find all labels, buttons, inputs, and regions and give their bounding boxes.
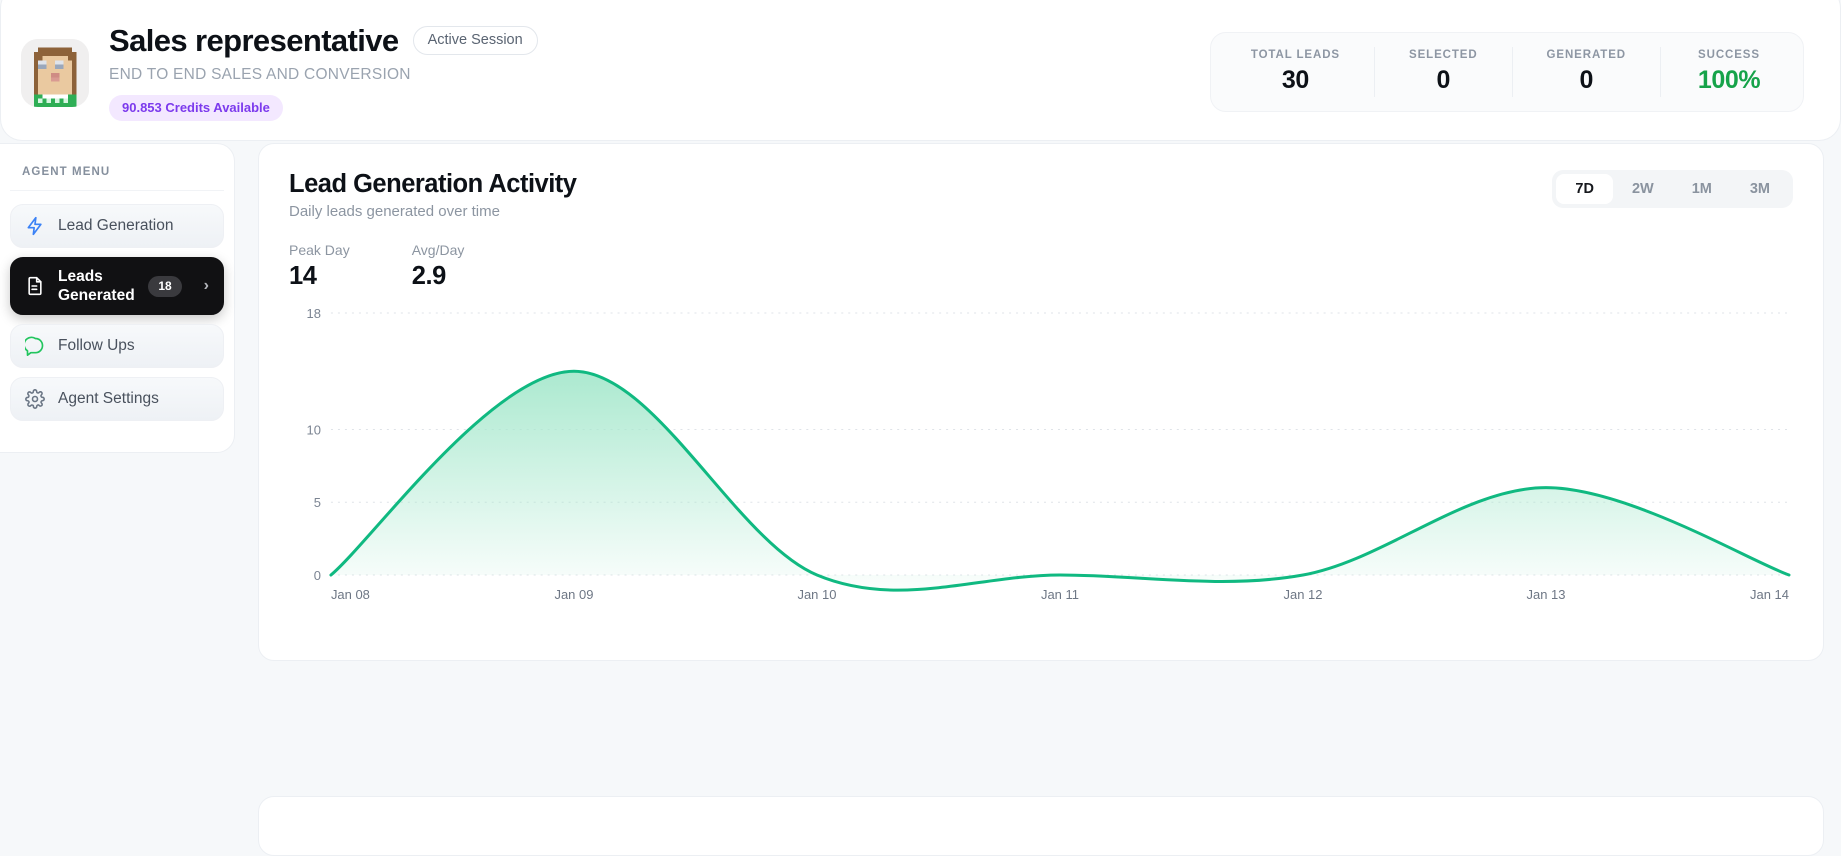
gear-icon (25, 389, 45, 409)
stat-value: 100% (1695, 66, 1763, 95)
chevron-right-icon: › (204, 277, 209, 295)
sidebar-item-label: Lead Generation (58, 217, 173, 235)
stat-success: SUCCESS 100% (1661, 47, 1797, 97)
kpi-avg-day: Avg/Day 2.9 (412, 242, 465, 291)
range-button-1m[interactable]: 1M (1673, 174, 1731, 204)
page-title: Sales representative (109, 23, 399, 59)
stat-total-leads: TOTAL LEADS 30 (1217, 47, 1375, 97)
chart-header: Lead Generation Activity Daily leads gen… (289, 170, 1793, 220)
sidebar-heading: AGENT MENU (10, 162, 224, 191)
y-axis-tick-label: 5 (314, 495, 321, 510)
chat-bubble-icon (25, 336, 45, 356)
x-axis-tick-label: Jan 14 (1750, 587, 1789, 602)
lightning-bolt-icon (25, 216, 45, 236)
sidebar-item-badge: 18 (148, 276, 181, 297)
stat-label: TOTAL LEADS (1251, 49, 1340, 61)
sidebar-item-leads-generated[interactable]: Leads Generated 18 › (10, 257, 224, 315)
kpi-peak-day: Peak Day 14 (289, 242, 350, 291)
chart-canvas: 051018Jan 08Jan 09Jan 10Jan 11Jan 12Jan … (289, 307, 1793, 607)
sidebar-item-agent-settings[interactable]: Agent Settings (10, 377, 224, 421)
x-axis-tick-label: Jan 13 (1527, 587, 1566, 602)
kpi-value: 14 (289, 262, 350, 291)
area-chart: 051018Jan 08Jan 09Jan 10Jan 11Jan 12Jan … (289, 307, 1793, 607)
chart-title-block: Lead Generation Activity Daily leads gen… (289, 170, 576, 220)
range-button-2w[interactable]: 2W (1613, 174, 1673, 204)
x-axis-tick-label: Jan 11 (1041, 587, 1079, 602)
credits-badge: 90.853 Credits Available (109, 95, 283, 121)
y-axis-tick-label: 0 (314, 568, 321, 583)
stat-selected: SELECTED 0 (1375, 47, 1513, 97)
stat-value: 30 (1251, 66, 1340, 95)
x-axis-tick-label: Jan 09 (554, 587, 593, 602)
pixel-avatar-woman-icon (21, 39, 89, 107)
agent-title-row: Sales representative Active Session (109, 23, 538, 59)
stats-summary: TOTAL LEADS 30 SELECTED 0 GENERATED 0 SU… (1210, 32, 1804, 112)
time-range-selector[interactable]: 7D 2W 1M 3M (1552, 170, 1793, 208)
stat-label: SELECTED (1409, 49, 1478, 61)
chart-subtitle: Daily leads generated over time (289, 203, 576, 220)
document-icon (25, 276, 45, 296)
next-section-card (258, 796, 1824, 856)
x-axis-tick-label: Jan 12 (1283, 587, 1322, 602)
y-axis-tick-label: 18 (307, 307, 321, 321)
agent-subtitle: END TO END SALES AND CONVERSION (109, 66, 538, 84)
sidebar: AGENT MENU Lead Generation Leads Generat… (0, 143, 235, 453)
kpi-label: Peak Day (289, 242, 350, 258)
stat-value: 0 (1409, 66, 1478, 95)
x-axis-tick-label: Jan 08 (331, 587, 370, 602)
stat-label: SUCCESS (1695, 49, 1763, 61)
stat-value: 0 (1547, 66, 1626, 95)
sidebar-item-label: Leads Generated (58, 267, 135, 306)
lead-generation-activity-card: Lead Generation Activity Daily leads gen… (258, 143, 1824, 661)
chart-kpis: Peak Day 14 Avg/Day 2.9 (289, 242, 1793, 291)
status-badge: Active Session (413, 26, 538, 55)
sidebar-item-follow-ups[interactable]: Follow Ups (10, 324, 224, 368)
range-button-7d[interactable]: 7D (1556, 174, 1613, 204)
avatar (21, 39, 89, 107)
range-button-3m[interactable]: 3M (1731, 174, 1789, 204)
agent-header: Sales representative Active Session END … (0, 0, 1841, 141)
chart-title: Lead Generation Activity (289, 170, 576, 199)
x-axis-tick-label: Jan 10 (797, 587, 836, 602)
y-axis-tick-label: 10 (307, 422, 321, 437)
sidebar-item-label: Follow Ups (58, 337, 135, 355)
stat-label: GENERATED (1547, 49, 1626, 61)
agent-identity: Sales representative Active Session END … (109, 23, 538, 122)
stat-generated: GENERATED 0 (1513, 47, 1661, 97)
sidebar-item-lead-generation[interactable]: Lead Generation (10, 204, 224, 248)
sidebar-item-label: Agent Settings (58, 390, 159, 408)
kpi-value: 2.9 (412, 262, 465, 291)
kpi-label: Avg/Day (412, 242, 465, 258)
